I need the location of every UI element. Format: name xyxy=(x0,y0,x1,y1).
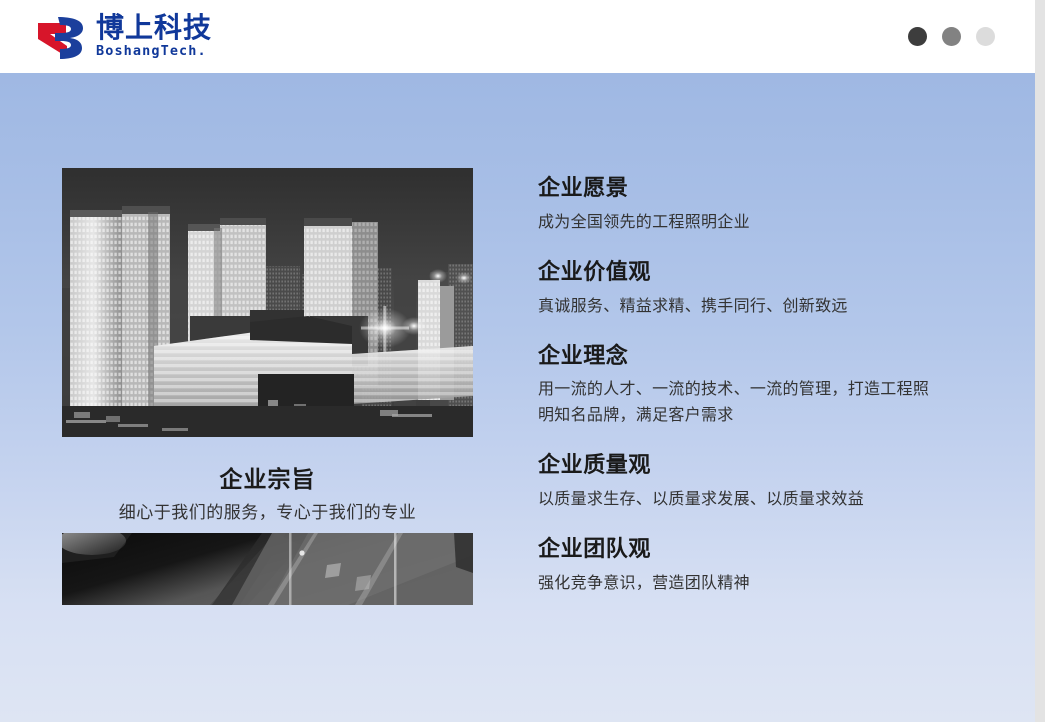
carousel-dots[interactable] xyxy=(908,27,995,46)
culture-item-body: 成为全国领先的工程照明企业 xyxy=(538,209,938,235)
culture-item-body: 强化竞争意识，营造团队精神 xyxy=(538,570,938,596)
page-right-edge xyxy=(1035,0,1045,722)
culture-columns: 企业宗旨 细心于我们的服务，专心于我们的专业 xyxy=(0,73,1035,722)
logo-chinese-name: 博上科技 xyxy=(96,14,212,43)
carousel-dot-1[interactable] xyxy=(908,27,927,46)
carousel-dot-3[interactable] xyxy=(976,27,995,46)
culture-item-vision: 企业愿景 成为全国领先的工程照明企业 xyxy=(538,173,958,235)
culture-item-title: 企业价值观 xyxy=(538,257,958,289)
night-road-photo xyxy=(62,533,473,605)
culture-item-body: 以质量求生存、以质量求发展、以质量求效益 xyxy=(538,486,938,512)
enterprise-purpose-title: 企业宗旨 xyxy=(62,463,473,498)
night-cityscape-photo xyxy=(62,168,473,437)
logo-wordmark: 博上科技 BoshangTech. xyxy=(96,14,212,60)
enterprise-purpose-body: 细心于我们的服务，专心于我们的专业 xyxy=(62,499,473,528)
logo-english-name: BoshangTech. xyxy=(96,43,212,60)
culture-item-quality: 企业质量观 以质量求生存、以质量求发展、以质量求效益 xyxy=(538,450,958,512)
culture-item-body: 用一流的人才、一流的技术、一流的管理，打造工程照明知名品牌，满足客户需求 xyxy=(538,376,938,428)
culture-item-title: 企业理念 xyxy=(538,341,958,373)
culture-item-title: 企业愿景 xyxy=(538,173,958,205)
boshang-logo-mark-icon xyxy=(36,14,90,60)
culture-item-body: 真诚服务、精益求精、携手同行、创新致远 xyxy=(538,293,938,319)
culture-section: 企业宗旨 细心于我们的服务，专心于我们的专业 xyxy=(0,73,1035,722)
page-root: 博上科技 BoshangTech. xyxy=(0,0,1045,722)
site-header: 博上科技 BoshangTech. xyxy=(0,0,1035,73)
left-column: 企业宗旨 细心于我们的服务，专心于我们的专业 xyxy=(62,168,473,605)
enterprise-purpose: 企业宗旨 细心于我们的服务，专心于我们的专业 xyxy=(62,463,473,533)
site-logo[interactable]: 博上科技 BoshangTech. xyxy=(36,12,212,62)
carousel-dot-2[interactable] xyxy=(942,27,961,46)
right-column: 企业愿景 成为全国领先的工程照明企业 企业价值观 真诚服务、精益求精、携手同行、… xyxy=(538,173,958,596)
culture-item-title: 企业团队观 xyxy=(538,534,958,566)
culture-item-values: 企业价值观 真诚服务、精益求精、携手同行、创新致远 xyxy=(538,257,958,319)
culture-item-title: 企业质量观 xyxy=(538,450,958,482)
culture-item-philosophy: 企业理念 用一流的人才、一流的技术、一流的管理，打造工程照明知名品牌，满足客户需… xyxy=(538,341,958,429)
culture-item-team: 企业团队观 强化竞争意识，营造团队精神 xyxy=(538,534,958,596)
